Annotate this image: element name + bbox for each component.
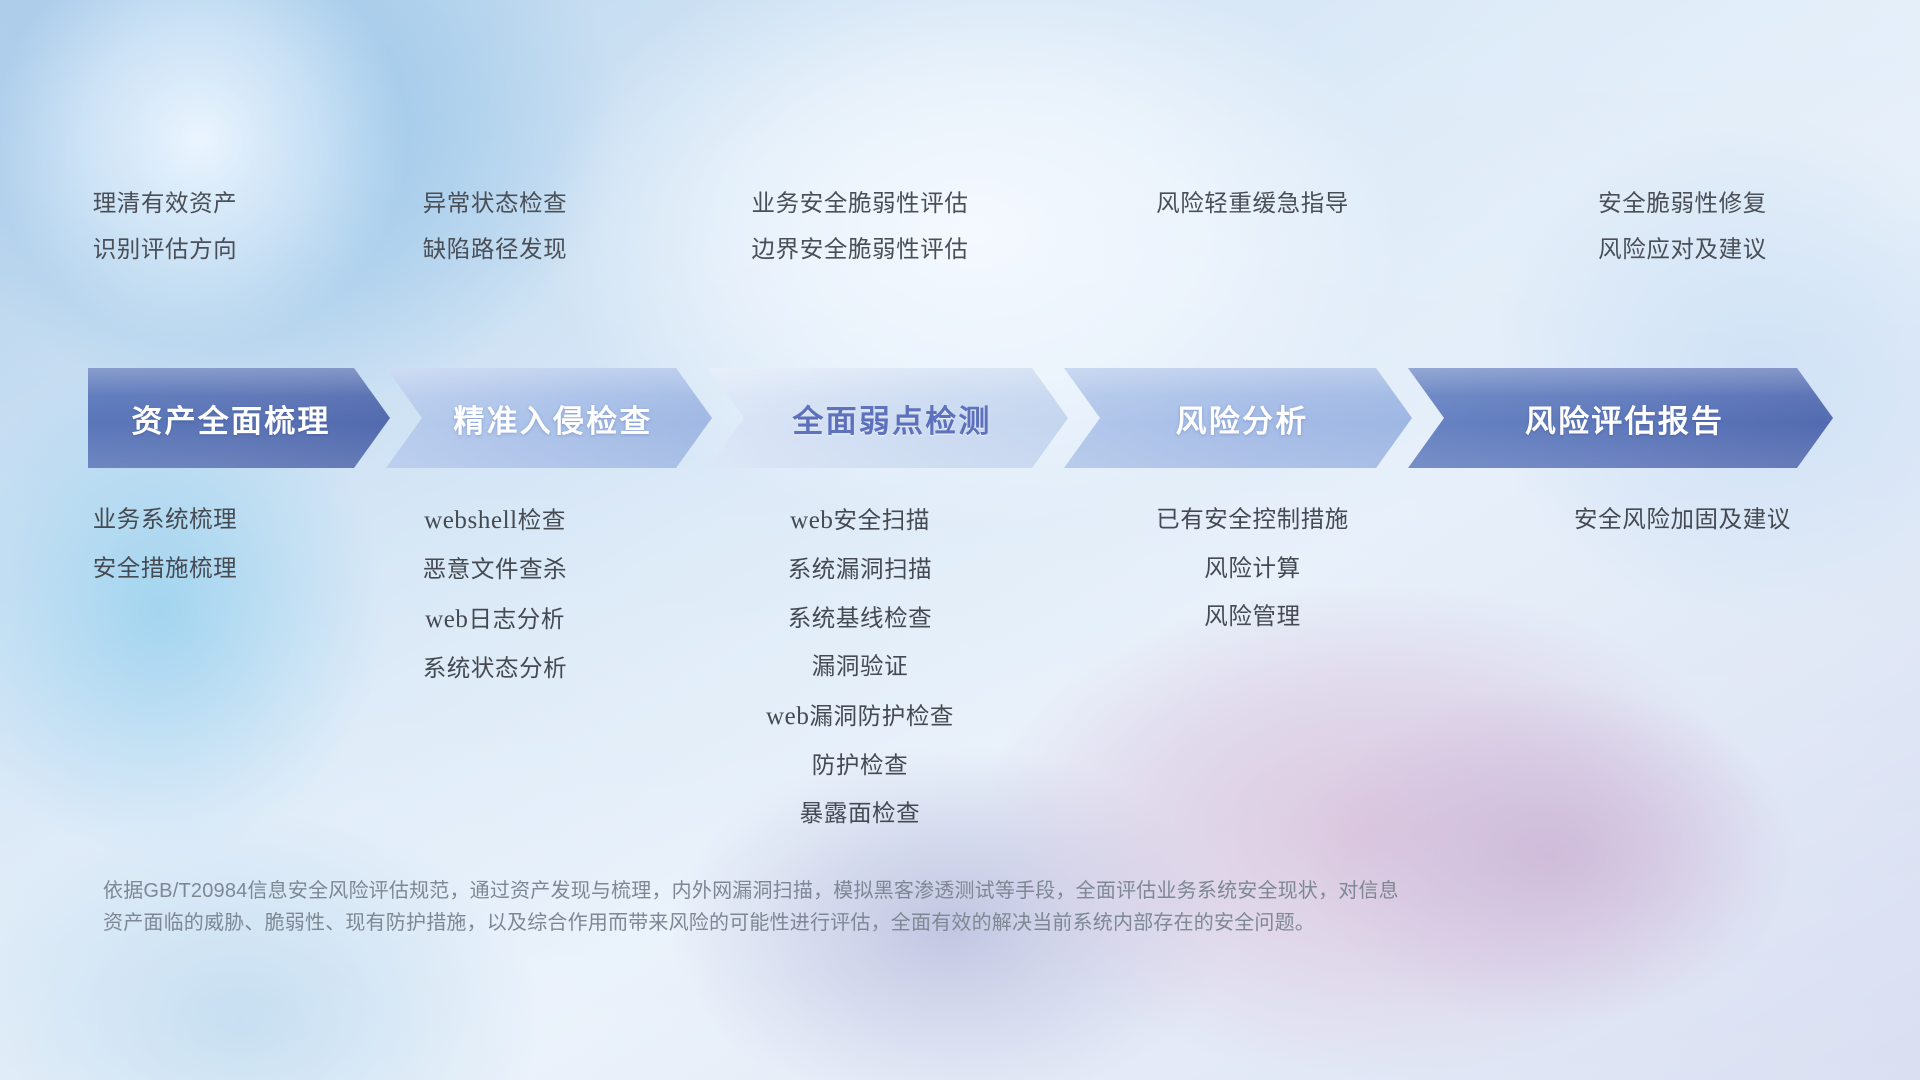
activity-text: web漏洞防护检查 bbox=[766, 704, 954, 729]
outcome-text: 缺陷路径发现 bbox=[423, 238, 568, 262]
outcome-text: 边界安全脆弱性评估 bbox=[752, 238, 969, 262]
stage-activities-risk-report: 安全风险加固及建议 bbox=[1445, 508, 1920, 826]
activity-text: 恶意文件查杀 bbox=[423, 558, 568, 582]
outcome-text: 识别评估方向 bbox=[93, 238, 238, 262]
stage-activities-intrusion-check: webshell检查 恶意文件查杀 web日志分析 系统状态分析 bbox=[330, 508, 660, 826]
stage-outcomes-row: 理清有效资产 识别评估方向 异常状态检查 缺陷路径发现 业务安全脆弱性评估 边界… bbox=[0, 192, 1920, 261]
activity-text: 系统状态分析 bbox=[423, 657, 568, 681]
stage-chevron-asset-inventory[interactable]: 资产全面梳理 bbox=[88, 368, 390, 468]
outcome-text: 业务安全脆弱性评估 bbox=[752, 192, 969, 216]
activity-text: 系统漏洞扫描 bbox=[788, 558, 933, 582]
description-paragraph: 依据GB/T20984信息安全风险评估规范，通过资产发现与梳理，内外网漏洞扫描，… bbox=[103, 875, 1663, 940]
activity-text: webshell检查 bbox=[424, 508, 566, 533]
stage-outcomes-intrusion-check: 异常状态检查 缺陷路径发现 bbox=[330, 192, 660, 261]
stage-chevron-band: 资产全面梳理 精准入侵检查 全面弱点检测 风险分析 风险评估报告 bbox=[88, 368, 1833, 468]
stage-chevron-risk-analysis[interactable]: 风险分析 bbox=[1064, 368, 1412, 468]
outcome-text: 异常状态检查 bbox=[423, 192, 568, 216]
activity-text: 安全措施梳理 bbox=[93, 557, 238, 581]
stage-label: 风险评估报告 bbox=[1525, 396, 1724, 441]
activity-text: 暴露面检查 bbox=[800, 802, 921, 826]
outcome-text: 风险应对及建议 bbox=[1598, 238, 1767, 262]
stage-label: 资产全面梳理 bbox=[131, 396, 330, 441]
process-flow-diagram: 理清有效资产 识别评估方向 异常状态检查 缺陷路径发现 业务安全脆弱性评估 边界… bbox=[0, 0, 1920, 1080]
stage-outcomes-risk-analysis: 风险轻重缓急指导 bbox=[1060, 192, 1445, 261]
stage-outcomes-weakness-detection: 业务安全脆弱性评估 边界安全脆弱性评估 bbox=[660, 192, 1060, 261]
stage-activities-row: 业务系统梳理 安全措施梳理 webshell检查 恶意文件查杀 web日志分析 … bbox=[0, 508, 1920, 826]
stage-label: 全面弱点检测 bbox=[792, 396, 991, 441]
outcome-text: 安全脆弱性修复 bbox=[1598, 192, 1767, 216]
description-line-2: 资产面临的威胁、脆弱性、现有防护措施，以及综合作用而带来风险的可能性进行评估，全… bbox=[103, 907, 1663, 939]
stage-label: 风险分析 bbox=[1176, 396, 1309, 441]
activity-text: 安全风险加固及建议 bbox=[1574, 508, 1791, 532]
stage-chevron-weakness-detection[interactable]: 全面弱点检测 bbox=[708, 368, 1068, 468]
stage-chevron-intrusion-check[interactable]: 精准入侵检查 bbox=[386, 368, 712, 468]
outcome-text: 风险轻重缓急指导 bbox=[1156, 192, 1349, 216]
stage-chevron-risk-report[interactable]: 风险评估报告 bbox=[1408, 368, 1833, 468]
stage-outcomes-risk-report: 安全脆弱性修复 风险应对及建议 bbox=[1445, 192, 1920, 261]
stage-activities-weakness-detection: web安全扫描 系统漏洞扫描 系统基线检查 漏洞验证 web漏洞防护检查 防护检… bbox=[660, 508, 1060, 826]
activity-text: web日志分析 bbox=[425, 607, 565, 632]
activity-text: 系统基线检查 bbox=[788, 607, 933, 631]
activity-text: 风险管理 bbox=[1204, 605, 1300, 629]
activity-text: 风险计算 bbox=[1204, 557, 1300, 581]
stage-activities-risk-analysis: 已有安全控制措施 风险计算 风险管理 bbox=[1060, 508, 1445, 826]
activity-text: 漏洞验证 bbox=[812, 655, 908, 679]
activity-text: 已有安全控制措施 bbox=[1156, 508, 1349, 532]
outcome-text: 理清有效资产 bbox=[93, 192, 238, 216]
activity-text: web安全扫描 bbox=[790, 508, 930, 533]
stage-label: 精准入侵检查 bbox=[453, 396, 652, 441]
activity-text: 业务系统梳理 bbox=[93, 508, 238, 532]
stage-outcomes-asset-inventory: 理清有效资产 识别评估方向 bbox=[0, 192, 330, 261]
description-line-1: 依据GB/T20984信息安全风险评估规范，通过资产发现与梳理，内外网漏洞扫描，… bbox=[103, 875, 1663, 907]
activity-text: 防护检查 bbox=[812, 754, 908, 778]
stage-activities-asset-inventory: 业务系统梳理 安全措施梳理 bbox=[0, 508, 330, 826]
